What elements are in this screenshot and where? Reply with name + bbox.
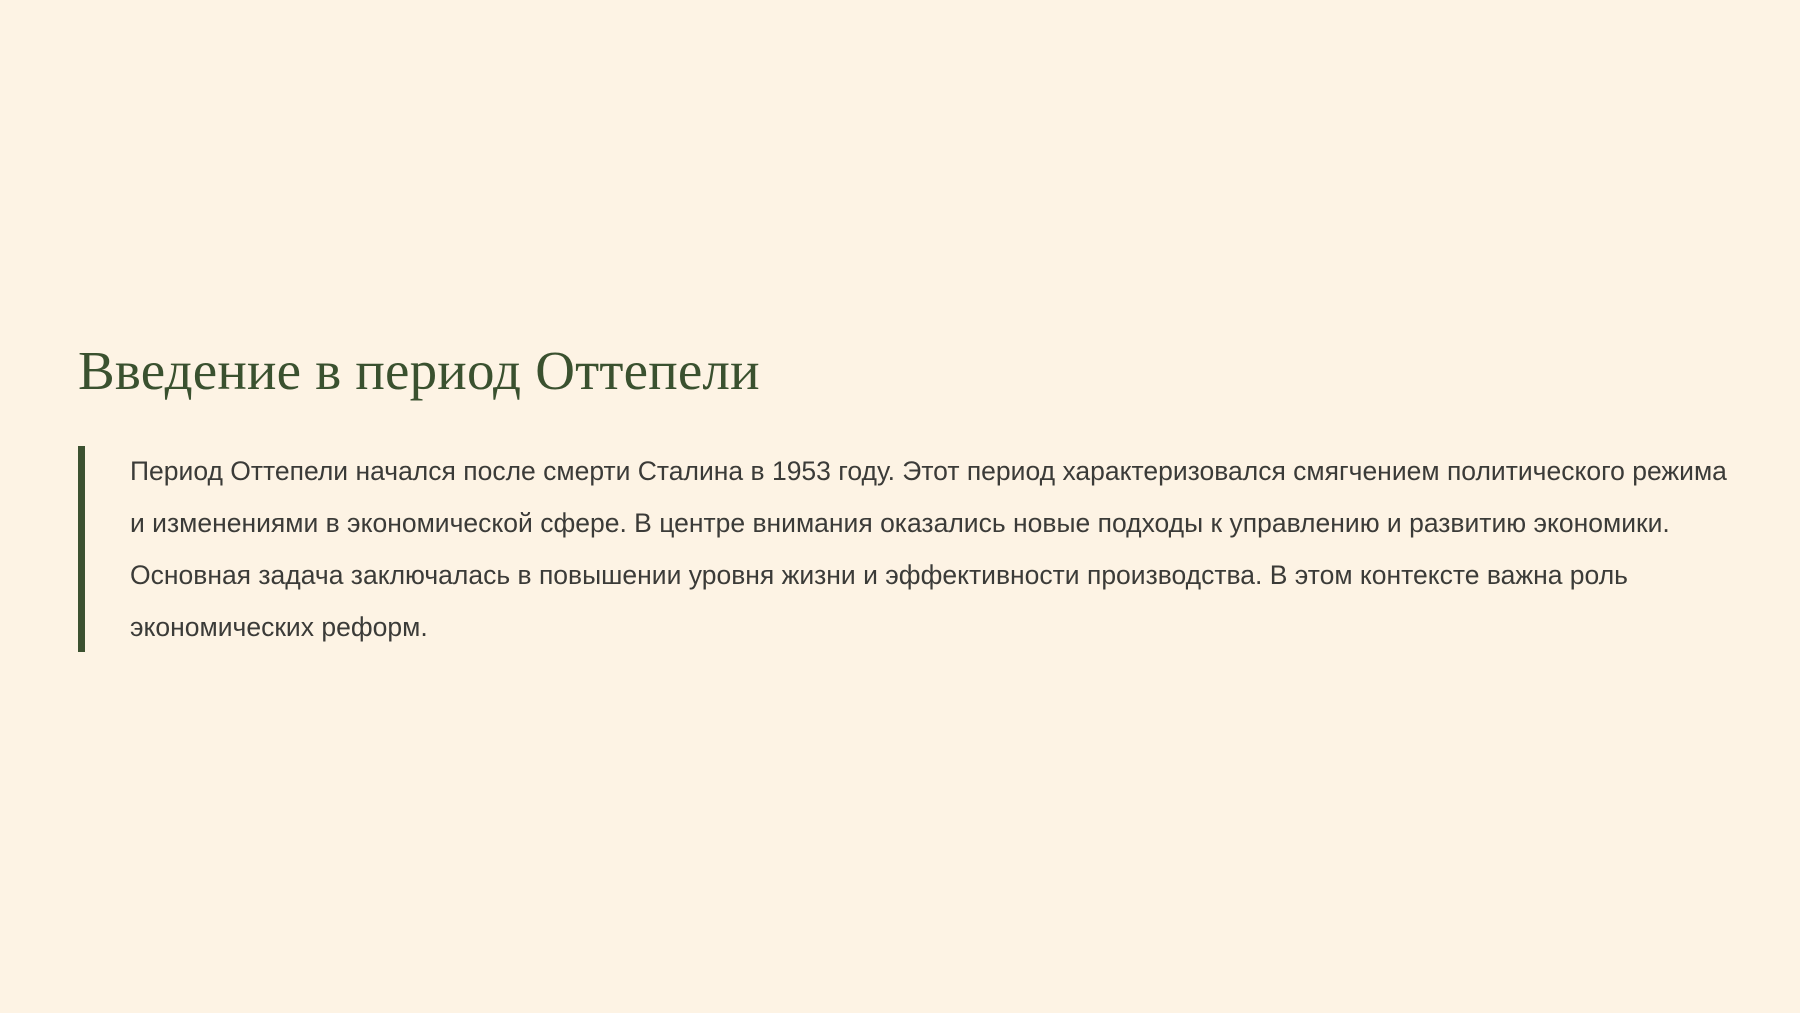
body-block: Период Оттепели начался после смерти Ста… bbox=[78, 444, 1758, 654]
slide-canvas: Введение в период Оттепели Период Оттепе… bbox=[0, 0, 1800, 1013]
body-paragraph: Период Оттепели начался после смерти Ста… bbox=[85, 444, 1740, 654]
page-title: Введение в период Оттепели bbox=[78, 340, 1758, 402]
slide-content: Введение в период Оттепели Период Оттепе… bbox=[78, 340, 1758, 654]
accent-bar bbox=[78, 446, 85, 652]
